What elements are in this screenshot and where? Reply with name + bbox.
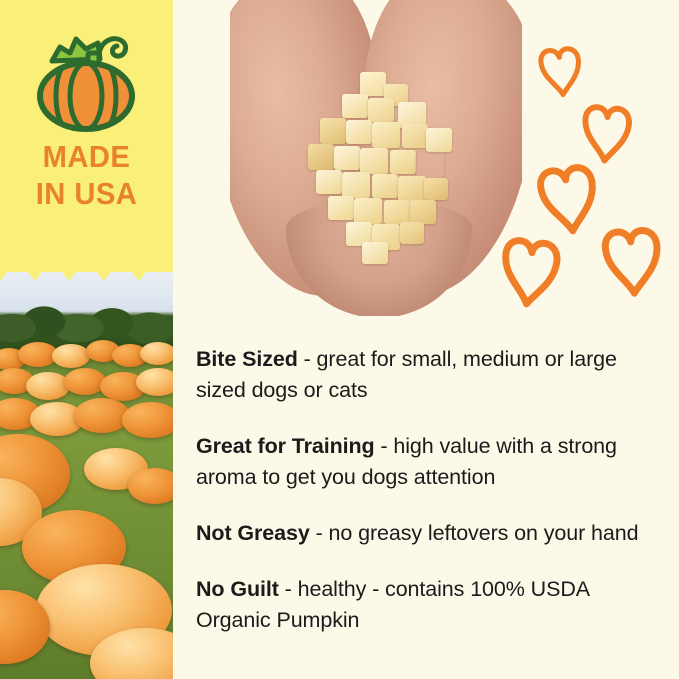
left-panel: MADE IN USA [0, 0, 173, 679]
hands-with-treats-photo [230, 0, 522, 316]
made-in-usa-line2: IN USA [5, 175, 168, 212]
bullet-bite-sized: Bite Sized - great for small, medium or … [196, 344, 658, 406]
bullet-great-for-training: Great for Training - high value with a s… [196, 431, 658, 493]
made-in-usa-badge: MADE IN USA [0, 0, 173, 276]
made-in-usa-text: MADE IN USA [5, 138, 168, 212]
bullet-heading: Great for Training [196, 434, 375, 458]
bullet-heading: Bite Sized [196, 347, 298, 371]
pumpkin-treat-cubes [302, 72, 462, 262]
zigzag-divider [0, 256, 173, 282]
pumpkin-icon [30, 25, 142, 137]
pumpkin-patch-photo [0, 272, 173, 679]
bullet-heading: No Guilt [196, 577, 279, 601]
bullet-not-greasy: Not Greasy - no greasy leftovers on your… [196, 518, 658, 549]
bullet-heading: Not Greasy [196, 521, 310, 545]
bullet-no-guilt: No Guilt - healthy - contains 100% USDA … [196, 574, 658, 636]
product-infographic: MADE IN USA [0, 0, 679, 679]
made-in-usa-line1: MADE [5, 138, 168, 175]
bullet-body: - no greasy leftovers on your hand [310, 521, 639, 545]
feature-bullet-list: Bite Sized - great for small, medium or … [196, 322, 658, 636]
